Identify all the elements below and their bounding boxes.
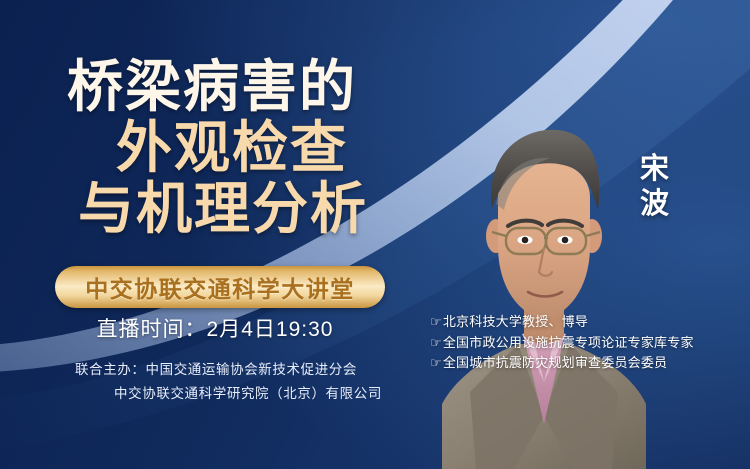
page-title: 桥梁病害的 外观检查 与机理分析 (0, 58, 430, 237)
series-name-badge: 中交协联交通科学大讲堂 (55, 266, 385, 308)
pointing-hand-icon: ☞ (430, 353, 442, 374)
credential-text: 全国市政公用设施抗震专项论证专家库专家 (443, 333, 694, 354)
title-line-3: 与机理分析 (16, 180, 430, 237)
title-line-1: 桥梁病害的 (0, 58, 430, 115)
credential-row: ☞ 全国市政公用设施抗震专项论证专家库专家 (430, 333, 750, 354)
credential-row: ☞ 全国城市抗震防灾规划审查委员会委员 (430, 353, 750, 374)
organizer-line-2: 中交协联交通科学研究院（北京）有限公司 (0, 382, 432, 406)
pointing-hand-icon: ☞ (430, 333, 442, 354)
left-content-column: 桥梁病害的 外观检查 与机理分析 中交协联交通科学大讲堂 直播时间：2月4日19… (0, 0, 440, 469)
speaker-name-char-2: 波 (632, 187, 678, 222)
series-name-label: 中交协联交通科学大讲堂 (85, 270, 355, 304)
portrait-illustration (440, 86, 648, 469)
organizer-line-1: 联合主办：中国交通运输协会新技术促进分会 (0, 358, 432, 382)
speaker-name-char-1: 宋 (632, 152, 678, 187)
webinar-poster: 桥梁病害的 外观检查 与机理分析 中交协联交通科学大讲堂 直播时间：2月4日19… (0, 0, 750, 469)
credential-row: ☞ 北京科技大学教授、博导 (430, 312, 750, 333)
organizers-block: 联合主办：中国交通运输协会新技术促进分会 中交协联交通科学研究院（北京）有限公司 (0, 358, 432, 405)
speaker-portrait (440, 86, 648, 469)
credential-text: 北京科技大学教授、博导 (443, 312, 588, 333)
broadcast-datetime: 直播时间：2月4日19:30 (0, 313, 430, 343)
pointing-hand-icon: ☞ (430, 312, 442, 333)
title-line-2: 外观检查 (34, 119, 430, 176)
speaker-credentials-list: ☞ 北京科技大学教授、博导 ☞ 全国市政公用设施抗震专项论证专家库专家 ☞ 全国… (430, 312, 750, 374)
credential-text: 全国城市抗震防灾规划审查委员会委员 (443, 353, 667, 374)
speaker-name: 宋 波 (632, 152, 678, 223)
